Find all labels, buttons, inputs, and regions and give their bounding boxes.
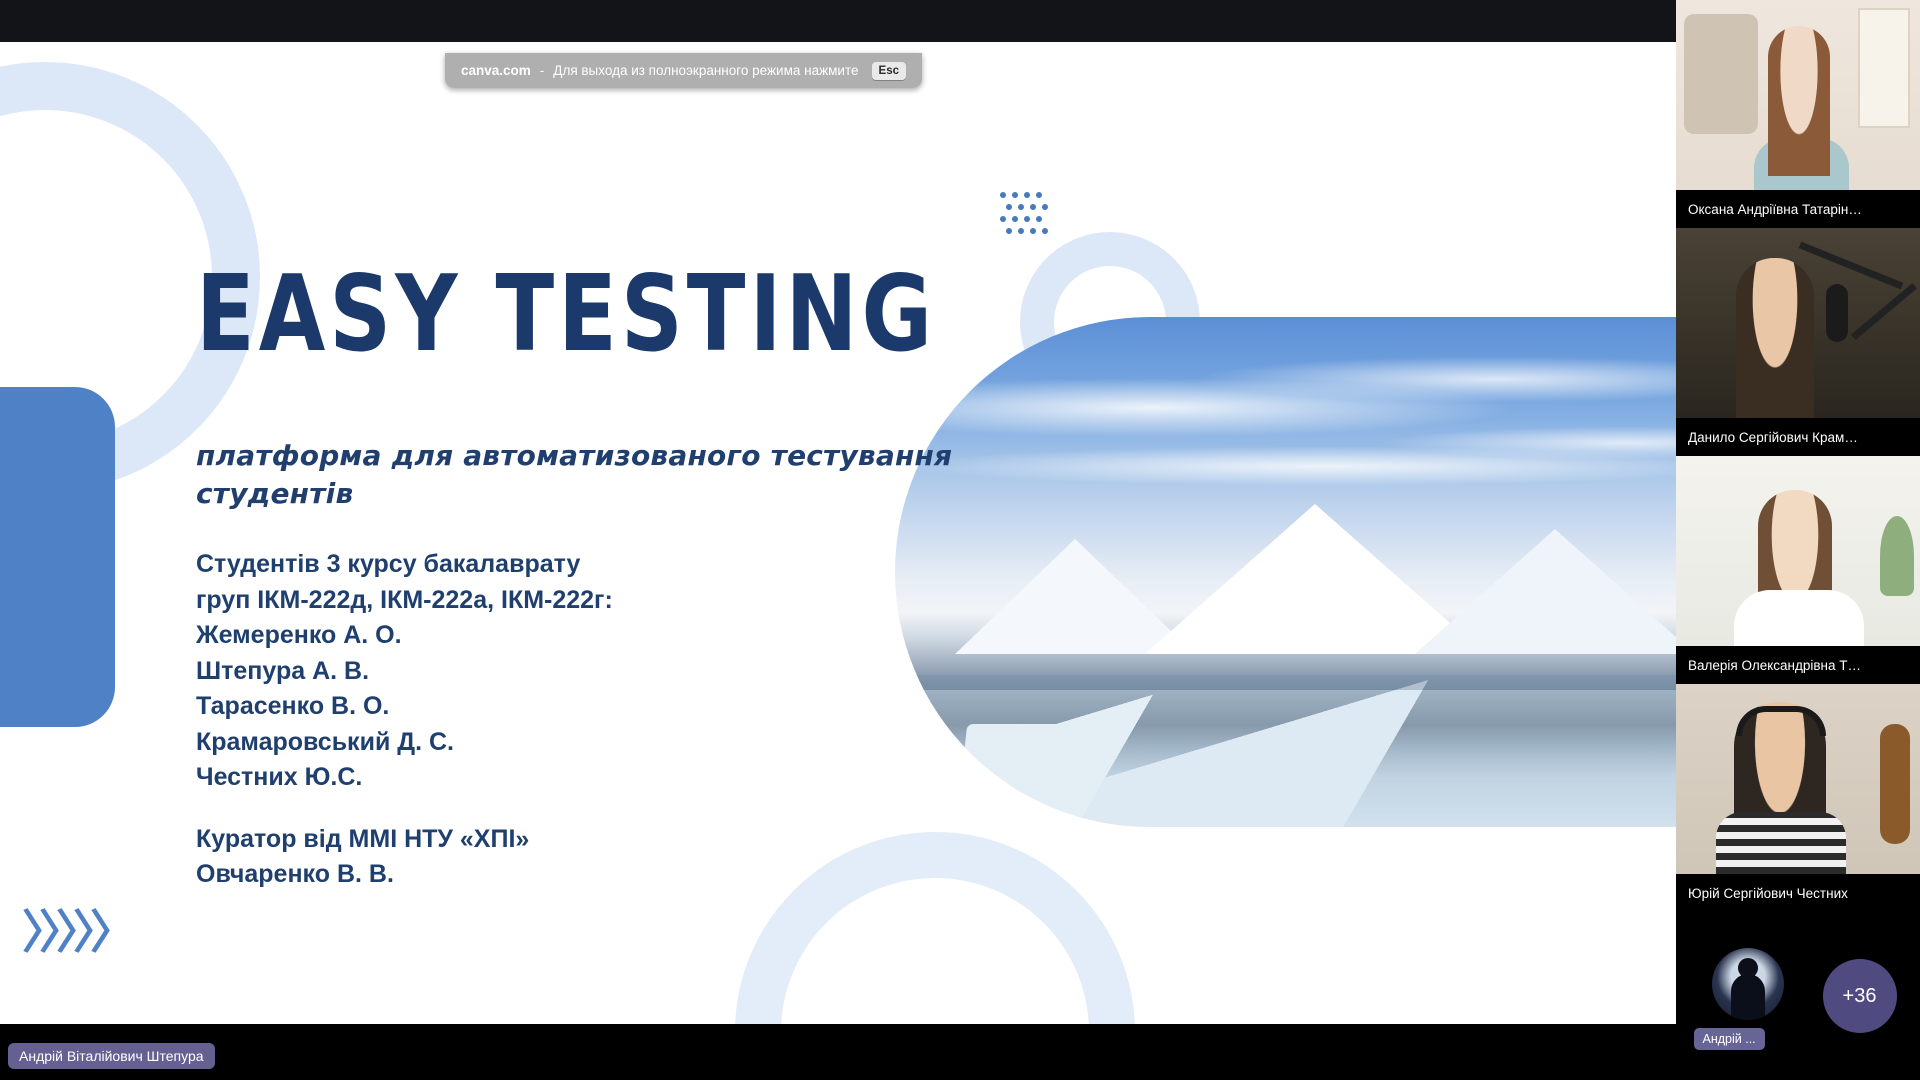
shared-slide-stage[interactable]: EASY TESTING платформа для автоматизован… xyxy=(0,42,1676,1024)
slide-body-text: Студентів 3 курсу бакалаврату груп ІКМ-2… xyxy=(196,547,816,893)
curator-line: Куратор від ММІ НТУ «ХПІ» xyxy=(196,822,816,858)
overflow-participants-row[interactable]: Андрій ... +36 xyxy=(1676,912,1920,1080)
participant-video xyxy=(1676,228,1920,418)
participant-name: Юрій Сергійович Честних xyxy=(1676,874,1920,912)
toast-host: canva.com xyxy=(461,63,531,78)
participant-tile[interactable]: Данило Сергійович Крам… xyxy=(1676,228,1920,456)
participant-filmstrip[interactable]: Оксана Андріївна Татарін… Данило Сергійо… xyxy=(1676,0,1920,1080)
slide-subtitle: платформа для автоматизованого тестуванн… xyxy=(196,437,986,513)
participant-avatar-tile[interactable]: Андрій ... xyxy=(1700,948,1796,1044)
body-line: Тарасенко В. О. xyxy=(196,689,816,725)
participant-video xyxy=(1676,0,1920,190)
participant-tile[interactable]: Юрій Сергійович Честних xyxy=(1676,684,1920,912)
toast-message: Для выхода из полноэкранного режима нажм… xyxy=(553,63,862,78)
participant-name: Валерія Олександрівна Т… xyxy=(1676,646,1920,684)
body-line: груп ІКМ-222д, ІКМ-222а, ІКМ-222г: xyxy=(196,583,816,619)
body-line: Честних Ю.С. xyxy=(196,760,816,796)
body-line: Жемеренко А. О. xyxy=(196,618,816,654)
decorative-ring-middle xyxy=(1020,232,1200,412)
participant-video xyxy=(1676,456,1920,646)
participant-video xyxy=(1676,684,1920,874)
body-line: Крамаровський Д. С. xyxy=(196,725,816,761)
participant-tile[interactable]: Валерія Олександрівна Т… xyxy=(1676,456,1920,684)
curator-line: Овчаренко В. В. xyxy=(196,857,816,893)
esc-key-badge: Esc xyxy=(872,62,906,80)
participant-name: Андрій ... xyxy=(1694,1028,1765,1050)
fullscreen-exit-toast: canva.com - Для выхода из полноэкранного… xyxy=(445,53,922,88)
decorative-dot-grid xyxy=(1000,192,1072,240)
decorative-bar-left xyxy=(0,387,115,727)
avatar xyxy=(1712,948,1784,1020)
participant-name: Данило Сергійович Крам… xyxy=(1676,418,1920,456)
body-line: Штепура А. В. xyxy=(196,654,816,690)
iceberg-photo-blob xyxy=(895,317,1676,827)
active-speaker-name-chip: Андрій Віталійович Штепура xyxy=(8,1043,215,1069)
body-line: Студентів 3 курсу бакалаврату xyxy=(196,547,816,583)
meeting-screen-share-view: EASY TESTING платформа для автоматизован… xyxy=(0,0,1920,1080)
more-participants-badge[interactable]: +36 xyxy=(1823,959,1897,1033)
chevron-decoration-icon: 〉〉〉〉〉 xyxy=(22,896,130,962)
toast-separator: - xyxy=(540,63,545,78)
browser-top-bar xyxy=(0,0,1676,42)
participant-tile[interactable]: Оксана Андріївна Татарін… xyxy=(1676,0,1920,228)
participant-name: Оксана Андріївна Татарін… xyxy=(1676,190,1920,228)
slide-title: EASY TESTING xyxy=(196,262,936,367)
